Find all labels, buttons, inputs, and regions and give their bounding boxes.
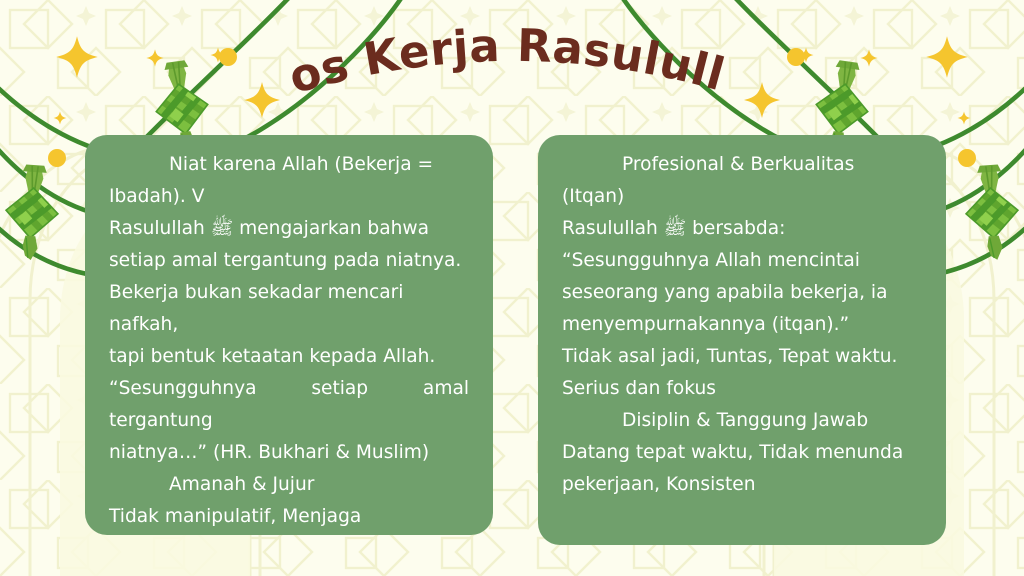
card-right-line: seseorang yang apabila bekerja, ia	[562, 277, 922, 309]
content-card-right: Profesional & Berkualitas (Itqan) Rasulu…	[538, 135, 946, 545]
card-left-line: Bekerja bukan sekadar mencari nafkah,	[109, 277, 469, 341]
card-left-line: tapi bentuk ketaatan kepada Allah.	[109, 341, 469, 373]
card-right-text: Datang tepat waktu, Tidak menunda	[562, 442, 903, 463]
card-left-text: setiap amal tergantung pada niatnya.	[109, 250, 461, 271]
card-right-text: menyempurnakannya (itqan).”	[562, 314, 849, 335]
card-right-line: “Sesungguhnya Allah mencintai	[562, 245, 922, 277]
card-left-text: Rasulullah ﷺ mengajarkan bahwa	[109, 218, 429, 239]
card-right-line: Rasulullah ﷺ bersabda:	[562, 213, 922, 245]
card-right-text: Tidak asal jadi, Tuntas, Tepat waktu.	[562, 346, 897, 367]
card-right-line: Serius dan fokus	[562, 373, 922, 405]
card-left-line: Tidak manipulatif, Menjaga	[109, 501, 469, 533]
card-left-text: Ibadah). V	[109, 186, 204, 207]
card-left-text: Tidak manipulatif, Menjaga	[109, 506, 361, 527]
card-right-text: Disiplin & Tanggung Jawab	[622, 410, 868, 431]
card-left-line: Niat karena Allah (Bekerja =	[109, 149, 469, 181]
card-right-text: seseorang yang apabila bekerja, ia	[562, 282, 887, 303]
card-right-line: Tidak asal jadi, Tuntas, Tepat waktu.	[562, 341, 922, 373]
card-left-text: Amanah & Jujur	[169, 474, 314, 495]
card-right-line: menyempurnakannya (itqan).”	[562, 309, 922, 341]
card-left-line: setiap amal tergantung pada niatnya.	[109, 245, 469, 277]
card-right-text: pekerjaan, Konsisten	[562, 474, 755, 495]
card-left-line: Ibadah). V	[109, 181, 469, 213]
card-left-text: “Sesungguhnya setiap amal tergantung	[109, 378, 469, 431]
card-right-text: Serius dan fokus	[562, 378, 716, 399]
card-right-text: Rasulullah ﷺ bersabda:	[562, 218, 785, 239]
card-left-text: Niat karena Allah (Bekerja =	[169, 154, 433, 175]
card-right-subheading: Profesional & Berkualitas (Itqan)	[562, 149, 922, 213]
card-left-text: tapi bentuk ketaatan kepada Allah.	[109, 346, 435, 367]
card-left-line: “Sesungguhnya setiap amal tergantung	[109, 373, 469, 437]
card-right-line: Datang tepat waktu, Tidak menunda	[562, 437, 922, 469]
card-left-line: niatnya…” (HR. Bukhari & Muslim)	[109, 437, 469, 469]
content-card-left: Niat karena Allah (Bekerja = Ibadah). V …	[85, 135, 493, 535]
card-right-text: Profesional & Berkualitas (Itqan)	[562, 154, 854, 207]
card-left-subheading: Amanah & Jujur	[109, 469, 469, 501]
card-left-line: kepercayaan atasan, rekan, dan	[109, 533, 469, 535]
card-left-text: niatnya…” (HR. Bukhari & Muslim)	[109, 442, 429, 463]
card-right-subheading: Disiplin & Tanggung Jawab	[562, 405, 922, 437]
card-left-line: Rasulullah ﷺ mengajarkan bahwa	[109, 213, 469, 245]
slide-canvas: Etos Kerja Rasululloh Niat karena Allah …	[0, 0, 1024, 576]
card-right-text: “Sesungguhnya Allah mencintai	[562, 250, 860, 271]
card-right-line: pekerjaan, Konsisten	[562, 469, 922, 501]
card-left-text: Bekerja bukan sekadar mencari nafkah,	[109, 282, 403, 335]
